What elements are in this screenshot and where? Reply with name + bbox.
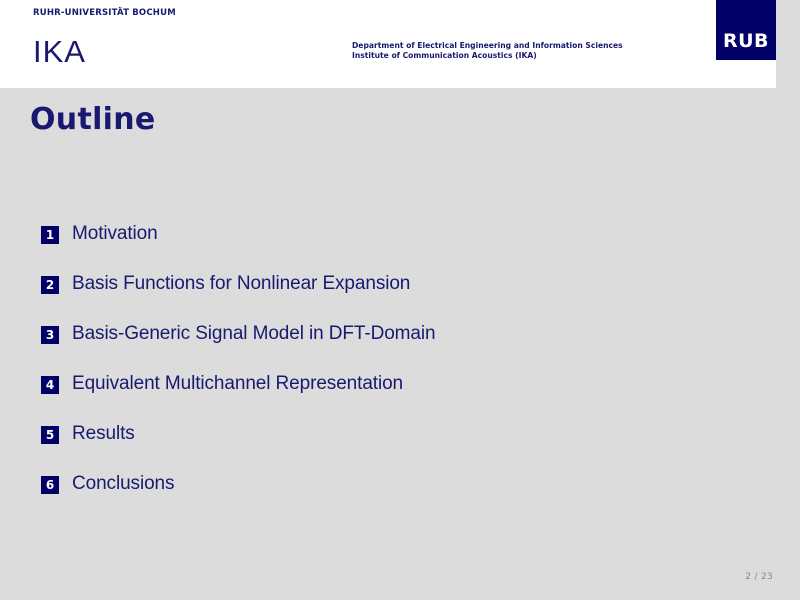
outline-number-badge: 5 [41, 426, 59, 444]
department-line-1: Department of Electrical Engineering and… [352, 41, 623, 51]
department-info: Department of Electrical Engineering and… [352, 41, 623, 61]
page-number: 2 / 23 [745, 572, 773, 582]
outline-number-badge: 6 [41, 476, 59, 494]
outline-item-6[interactable]: 6 Conclusions [41, 476, 741, 526]
outline-item-label: Conclusions [72, 473, 174, 495]
outline-item-3[interactable]: 3 Basis-Generic Signal Model in DFT-Doma… [41, 326, 741, 376]
rub-logo-text: RUB [716, 30, 776, 52]
outline-item-2[interactable]: 2 Basis Functions for Nonlinear Expansio… [41, 276, 741, 326]
outline-item-1[interactable]: 1 Motivation [41, 226, 741, 276]
outline-item-label: Equivalent Multichannel Representation [72, 373, 403, 395]
department-line-2: Institute of Communication Acoustics (IK… [352, 51, 623, 61]
institute-logo-text: IKA [33, 36, 86, 67]
outline-item-label: Results [72, 423, 135, 445]
outline-list: 1 Motivation 2 Basis Functions for Nonli… [41, 226, 741, 526]
outline-number-badge: 1 [41, 226, 59, 244]
outline-item-4[interactable]: 4 Equivalent Multichannel Representation [41, 376, 741, 426]
presentation-slide: RUHR-UNIVERSITÄT BOCHUM IKA Department o… [0, 0, 800, 600]
outline-item-label: Motivation [72, 223, 158, 245]
outline-number-badge: 2 [41, 276, 59, 294]
slide-header: RUHR-UNIVERSITÄT BOCHUM IKA Department o… [0, 0, 776, 88]
outline-number-badge: 4 [41, 376, 59, 394]
outline-item-5[interactable]: 5 Results [41, 426, 741, 476]
university-name: RUHR-UNIVERSITÄT BOCHUM [33, 8, 176, 18]
outline-item-label: Basis Functions for Nonlinear Expansion [72, 273, 410, 295]
right-side-strip [776, 0, 800, 600]
rub-logo: RUB [716, 0, 776, 60]
outline-number-badge: 3 [41, 326, 59, 344]
page-title: Outline [30, 103, 156, 138]
outline-item-label: Basis-Generic Signal Model in DFT-Domain [72, 323, 435, 345]
